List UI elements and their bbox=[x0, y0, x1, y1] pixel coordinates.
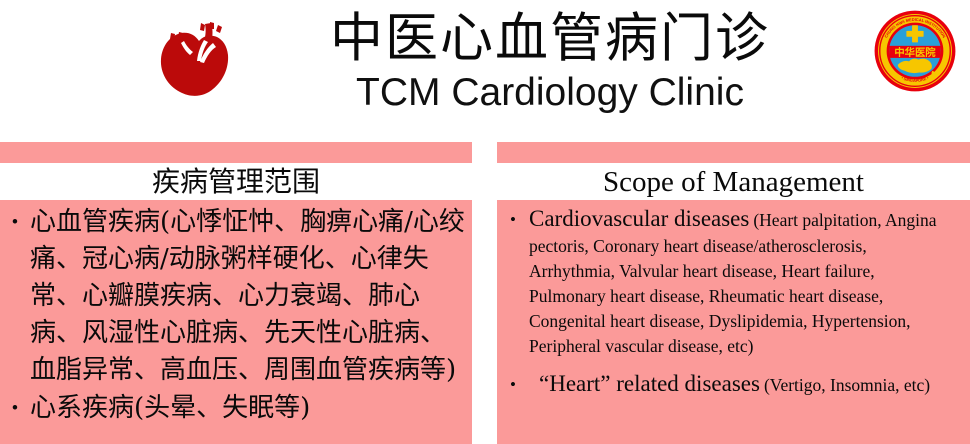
title-block: 中医心血管病门诊 TCM Cardiology Clinic bbox=[240, 6, 860, 116]
bullet-glyph: • bbox=[497, 369, 529, 401]
column-english: Scope of Management • Cardiovascular dis… bbox=[497, 142, 970, 444]
column-left-title-text: 疾病管理范围 bbox=[152, 165, 320, 199]
list-item-text: Cardiovascular diseases (Heart palpitati… bbox=[529, 204, 970, 359]
list-item-lead: Cardiovascular diseases bbox=[529, 206, 749, 231]
list-item: • Cardiovascular diseases (Heart palpita… bbox=[497, 204, 970, 359]
chung-hwa-medical-institution-logo: 中华医院 CHUNG HWA MEDICAL INSTITUTION • SIN… bbox=[872, 8, 958, 94]
list-item-text: “Heart” related diseases (Vertigo, Insom… bbox=[529, 369, 948, 399]
anatomical-heart-icon bbox=[158, 18, 238, 104]
list-item-detail: (Vertigo, Insomnia, etc) bbox=[764, 375, 930, 395]
clinic-title-chinese: 中医心血管病门诊 bbox=[240, 6, 860, 72]
list-item: • “Heart” related diseases (Vertigo, Ins… bbox=[497, 369, 970, 401]
scope-columns: 疾病管理范围 • 心血管疾病(心悸怔忡、胸痹心痛/心绞痛、冠心病/动脉粥样硬化、… bbox=[0, 142, 970, 442]
column-right-title: Scope of Management bbox=[497, 163, 970, 200]
column-right-body: • Cardiovascular diseases (Heart palpita… bbox=[497, 200, 970, 444]
column-right-title-text: Scope of Management bbox=[603, 165, 864, 199]
bullet-glyph: • bbox=[497, 204, 529, 236]
column-left-body: • 心血管疾病(心悸怔忡、胸痹心痛/心绞痛、冠心病/动脉粥样硬化、心律失常、心瓣… bbox=[0, 200, 472, 444]
column-left-title: 疾病管理范围 bbox=[0, 163, 472, 200]
column-chinese: 疾病管理范围 • 心血管疾病(心悸怔忡、胸痹心痛/心绞痛、冠心病/动脉粥样硬化、… bbox=[0, 142, 472, 444]
bullet-glyph: • bbox=[0, 204, 30, 241]
tcm-cardiology-clinic-poster: 中医心血管病门诊 TCM Cardiology Clinic 中华医院 bbox=[0, 0, 970, 442]
svg-text:中华医院: 中华医院 bbox=[894, 46, 936, 59]
list-item: • 心系疾病(头晕、失眠等) bbox=[0, 390, 472, 427]
bullet-glyph: • bbox=[0, 390, 30, 427]
poster-header: 中医心血管病门诊 TCM Cardiology Clinic 中华医院 bbox=[0, 0, 970, 136]
list-item-text: 心系疾病(头晕、失眠等) bbox=[30, 390, 316, 427]
list-item: • 心血管疾病(心悸怔忡、胸痹心痛/心绞痛、冠心病/动脉粥样硬化、心律失常、心瓣… bbox=[0, 204, 472, 389]
list-item-text: 心血管疾病(心悸怔忡、胸痹心痛/心绞痛、冠心病/动脉粥样硬化、心律失常、心瓣膜疾… bbox=[30, 204, 472, 389]
clinic-title-english: TCM Cardiology Clinic bbox=[240, 70, 860, 116]
list-item-detail: (Heart palpitation, Angina pectoris, Cor… bbox=[529, 210, 937, 356]
list-item-lead: “Heart” related diseases bbox=[539, 371, 760, 396]
column-left-accent-bar bbox=[0, 142, 472, 163]
column-right-accent-bar bbox=[497, 142, 970, 163]
